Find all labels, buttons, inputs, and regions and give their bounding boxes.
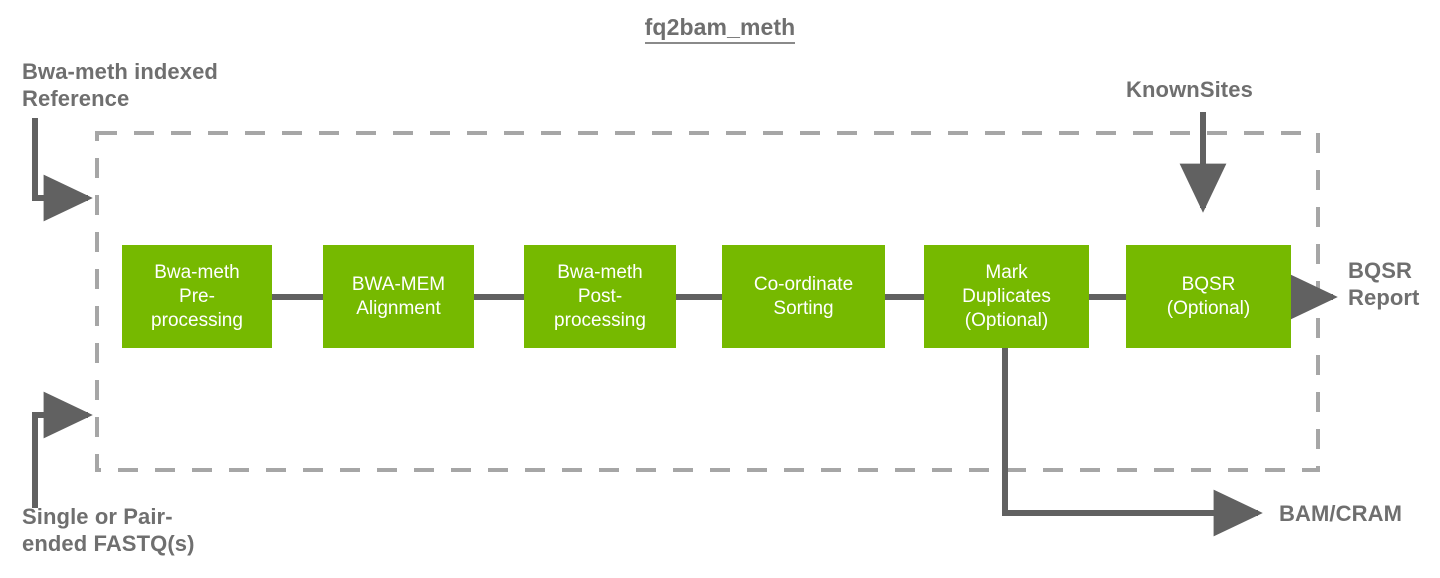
bqsr-report-output-label: BQSR Report — [1348, 257, 1420, 311]
knownsites-input-label: KnownSites — [1126, 76, 1253, 103]
fastq-input-arrow — [35, 415, 88, 508]
diagram-canvas: fq2bam_meth Bwa-meth indexed Reference S… — [0, 0, 1440, 578]
node-bwa-meth-preprocessing[interactable]: Bwa-meth Pre- processing — [122, 245, 272, 348]
bam-cram-output-label: BAM/CRAM — [1279, 500, 1402, 527]
node-bqsr[interactable]: BQSR (Optional) — [1126, 245, 1291, 348]
reference-input-arrow — [35, 118, 88, 198]
fastq-input-label: Single or Pair- ended FASTQ(s) — [22, 503, 195, 557]
diagram-title: fq2bam_meth — [0, 14, 1440, 41]
node-mark-duplicates[interactable]: Mark Duplicates (Optional) — [924, 245, 1089, 348]
node-bwa-meth-postprocessing[interactable]: Bwa-meth Post- processing — [524, 245, 676, 348]
diagram-title-text: fq2bam_meth — [645, 14, 796, 44]
bam-cram-arrow — [1005, 348, 1258, 513]
reference-input-label: Bwa-meth indexed Reference — [22, 58, 218, 112]
node-bwa-mem-alignment[interactable]: BWA-MEM Alignment — [323, 245, 474, 348]
node-coordinate-sorting[interactable]: Co-ordinate Sorting — [722, 245, 885, 348]
